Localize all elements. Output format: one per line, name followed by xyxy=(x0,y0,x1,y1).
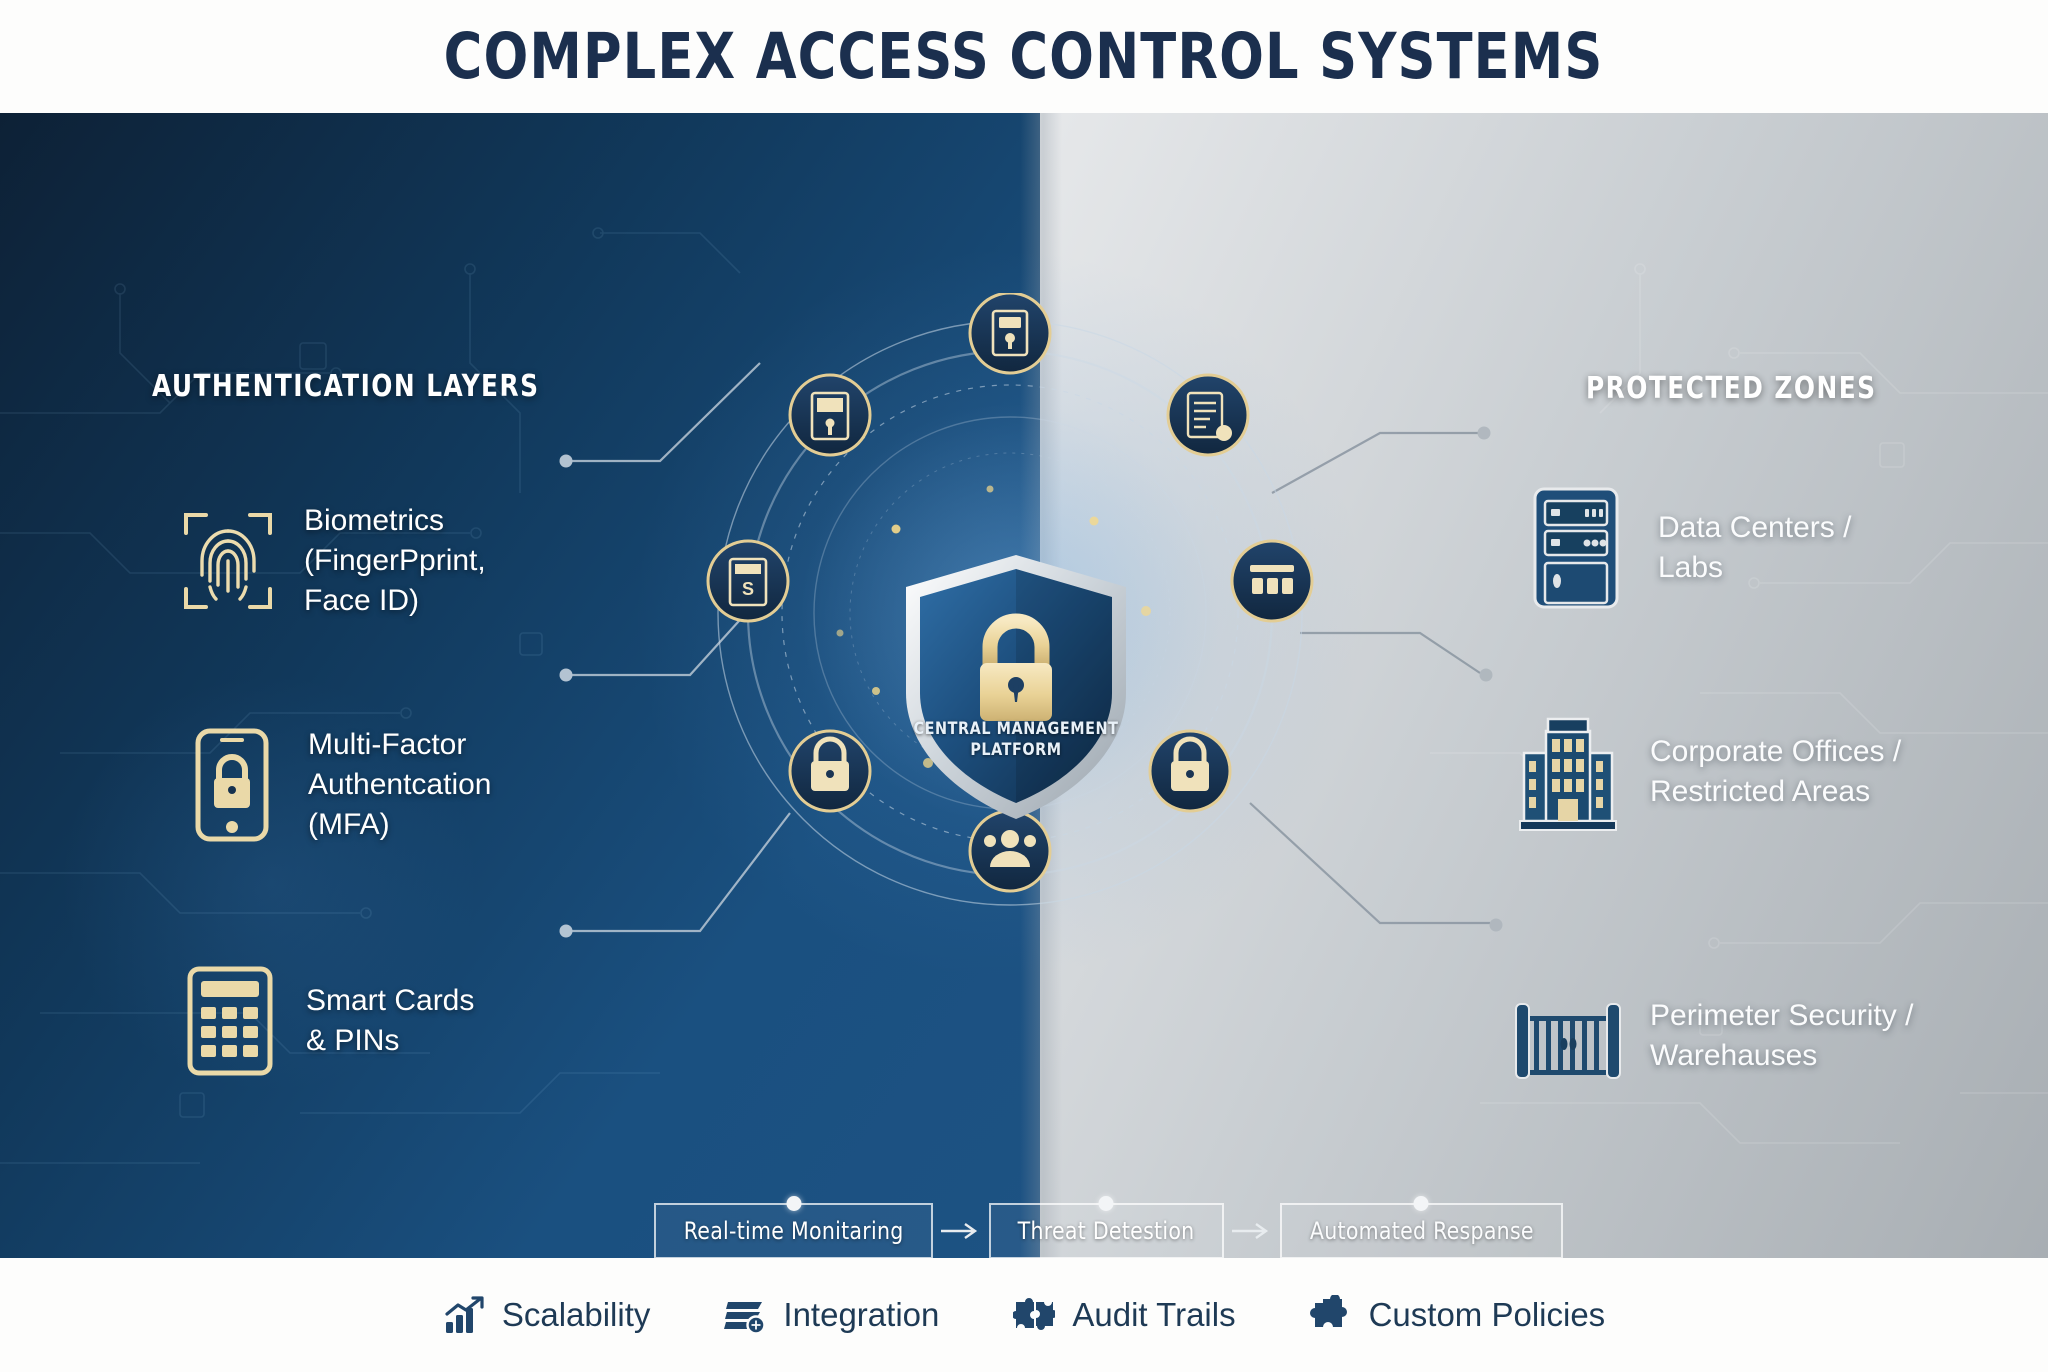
title-bar: COMPLEX ACCESS CONTROL SYSTEMS xyxy=(0,0,2048,113)
keypad-card-icon xyxy=(180,965,280,1077)
feature-biometrics: Biometrics (FingerPprint, Face ID) xyxy=(178,501,486,621)
orbit-node-badge-scanner xyxy=(790,375,870,455)
process-step-response[interactable]: Automated Respanse xyxy=(1280,1203,1564,1258)
footer-item-audit-trails-label: Audit Trails xyxy=(1072,1296,1235,1334)
feature-smart-cards: Smart Cards & PINs xyxy=(180,965,474,1077)
footer-item-custom-policies[interactable]: Custom Policies xyxy=(1310,1294,1606,1336)
office-building-icon xyxy=(1512,709,1624,835)
server-rack-icon xyxy=(1520,485,1632,611)
footer-item-integration-label: Integration xyxy=(783,1296,939,1334)
stacked-layers-icon xyxy=(724,1294,766,1336)
orbit-node-padlock-left xyxy=(790,731,870,811)
orbit-node-padlock-right xyxy=(1150,731,1230,811)
process-step-monitoring-label: Real-time Monitaring xyxy=(684,1217,904,1245)
footer-item-scalability[interactable]: Scalability xyxy=(443,1294,651,1336)
left-column-heading: AUTHENTICATION LAYERS xyxy=(152,369,539,404)
right-column-heading: PROTECTED ZONES xyxy=(1586,371,1877,406)
zone-data-centers-label: Data Centers / Labs xyxy=(1658,508,1851,588)
puzzle-pieces-icon xyxy=(1013,1294,1055,1336)
feature-mfa-label: Multi-Factor Authentcation (MFA) xyxy=(308,725,491,845)
bar-chart-growth-icon xyxy=(443,1294,485,1336)
zone-perimeter-security: Perimeter Security / Warehauses xyxy=(1512,973,1913,1099)
zone-perimeter-security-label: Perimeter Security / Warehauses xyxy=(1650,996,1913,1076)
svg-text:S: S xyxy=(742,579,754,599)
process-arrow-1 xyxy=(933,1203,989,1258)
main-panel: S xyxy=(0,113,2048,1258)
footer-item-custom-policies-label: Custom Policies xyxy=(1369,1296,1606,1334)
zone-corporate-offices: Corporate Offices / Restricted Areas xyxy=(1512,709,1901,835)
footer-item-scalability-label: Scalability xyxy=(502,1296,651,1334)
process-flow: Real-time Monitaring Threat Detestion Au… xyxy=(654,1203,1563,1258)
phone-lock-icon xyxy=(182,729,282,841)
feature-mfa: Multi-Factor Authentcation (MFA) xyxy=(182,725,491,845)
orbit-node-turnstile-gate xyxy=(1232,541,1312,621)
puzzle-piece-icon xyxy=(1310,1294,1352,1336)
process-step-detection-label: Threat Detestion xyxy=(1018,1217,1195,1245)
infographic-root: COMPLEX ACCESS CONTROL SYSTEMS xyxy=(0,0,2048,1372)
process-step-monitoring[interactable]: Real-time Monitaring xyxy=(654,1203,933,1258)
process-step-detection[interactable]: Threat Detestion xyxy=(989,1203,1223,1258)
zone-corporate-offices-label: Corporate Offices / Restricted Areas xyxy=(1650,732,1901,812)
feature-smart-cards-label: Smart Cards & PINs xyxy=(306,981,474,1061)
orbit-node-door-access-reader xyxy=(970,293,1050,373)
shield-graphic xyxy=(900,553,1132,823)
process-arrow-2 xyxy=(1224,1203,1280,1258)
orbit-node-log-document xyxy=(1168,375,1248,455)
feature-biometrics-label: Biometrics (FingerPprint, Face ID) xyxy=(304,501,486,621)
page-title: COMPLEX ACCESS CONTROL SYSTEMS xyxy=(444,20,1604,93)
footer-bar: Scalability Integration xyxy=(0,1258,2048,1372)
orbit-node-card-reader: S xyxy=(708,541,788,621)
zone-data-centers: Data Centers / Labs xyxy=(1520,485,1851,611)
fingerprint-scan-icon xyxy=(178,505,278,617)
central-shield: CENTRAL MANAGEMENT PLATFORM xyxy=(900,553,1132,823)
shield-label: CENTRAL MANAGEMENT PLATFORM xyxy=(907,719,1125,762)
process-step-response-label: Automated Respanse xyxy=(1309,1217,1533,1245)
perimeter-gate-icon xyxy=(1512,973,1624,1099)
footer-item-audit-trails[interactable]: Audit Trails xyxy=(1013,1294,1235,1336)
footer-item-integration[interactable]: Integration xyxy=(724,1294,939,1336)
